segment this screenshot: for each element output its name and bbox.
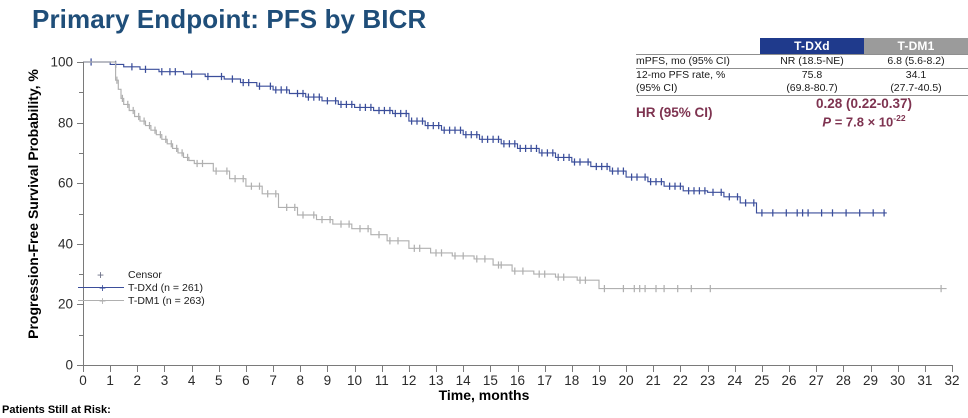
x-tick-label-26: 26 bbox=[775, 373, 803, 388]
censor-plus-icon: + bbox=[99, 295, 106, 307]
risk-caption: Patients Still at Risk: bbox=[2, 404, 111, 416]
x-tick-15 bbox=[490, 366, 491, 372]
x-tick-29 bbox=[871, 366, 872, 372]
stats-header-tdxd: T-DXd bbox=[760, 38, 864, 55]
x-tick-label-17: 17 bbox=[531, 373, 559, 388]
x-tick-31 bbox=[925, 366, 926, 372]
row-mpfs-tdxd: NR (18.5-NE) bbox=[760, 55, 864, 69]
x-tick-label-27: 27 bbox=[802, 373, 830, 388]
x-tick-16 bbox=[518, 366, 519, 372]
x-tick-11 bbox=[382, 366, 383, 372]
page-title: Primary Endpoint: PFS by BICR bbox=[32, 4, 426, 35]
p-value: P = 7.8 × 10-22 bbox=[760, 111, 968, 129]
x-tick-label-13: 13 bbox=[422, 373, 450, 388]
y-tick-label-60: 60 bbox=[39, 176, 73, 191]
x-tick-label-2: 2 bbox=[123, 373, 151, 388]
y-axis-label: Progression-Free Survival Probability, % bbox=[25, 44, 41, 364]
y-tick-minor-70 bbox=[79, 153, 83, 154]
legend-key-icon: + bbox=[78, 295, 124, 307]
y-axis-line bbox=[83, 62, 84, 366]
x-tick-30 bbox=[898, 366, 899, 372]
row-rate-label: 12-mo PFS rate, % bbox=[636, 69, 760, 82]
stats-table: T-DXd T-DM1 mPFS, mo (95% CI) NR (18.5-N… bbox=[636, 38, 968, 129]
x-tick-1 bbox=[110, 366, 111, 372]
y-tick-major-80 bbox=[77, 123, 83, 124]
x-tick-2 bbox=[137, 366, 138, 372]
x-tick-21 bbox=[653, 366, 654, 372]
stats-hr-row: HR (95% CI) 0.28 (0.22-0.37) P = 7.8 × 1… bbox=[636, 96, 968, 129]
y-tick-major-40 bbox=[77, 244, 83, 245]
row-rate-tdm1: 34.1 bbox=[864, 69, 968, 82]
x-tick-label-16: 16 bbox=[504, 373, 532, 388]
x-tick-label-20: 20 bbox=[612, 373, 640, 388]
y-tick-label-100: 100 bbox=[39, 55, 73, 70]
x-tick-label-23: 23 bbox=[694, 373, 722, 388]
x-tick-25 bbox=[762, 366, 763, 372]
x-tick-label-25: 25 bbox=[748, 373, 776, 388]
p-exponent: -22 bbox=[893, 113, 905, 123]
row-ci-label: (95% CI) bbox=[636, 82, 760, 96]
x-tick-label-29: 29 bbox=[857, 373, 885, 388]
x-tick-27 bbox=[816, 366, 817, 372]
y-tick-major-60 bbox=[77, 183, 83, 184]
table-row: (95% CI) (69.8-80.7) (27.7-40.5) bbox=[636, 82, 968, 96]
x-tick-label-0: 0 bbox=[69, 373, 97, 388]
x-tick-label-6: 6 bbox=[232, 373, 260, 388]
legend-label: T-DXd (n = 261) bbox=[128, 282, 203, 294]
x-tick-label-11: 11 bbox=[368, 373, 396, 388]
x-tick-label-15: 15 bbox=[476, 373, 504, 388]
table-row: mPFS, mo (95% CI) NR (18.5-NE) 6.8 (5.6-… bbox=[636, 55, 968, 69]
x-tick-20 bbox=[626, 366, 627, 372]
x-tick-label-19: 19 bbox=[585, 373, 613, 388]
x-tick-4 bbox=[192, 366, 193, 372]
x-tick-22 bbox=[680, 366, 681, 372]
x-tick-10 bbox=[355, 366, 356, 372]
x-tick-label-18: 18 bbox=[558, 373, 586, 388]
stats-header-row: T-DXd T-DM1 bbox=[636, 38, 968, 55]
x-tick-13 bbox=[436, 366, 437, 372]
x-tick-18 bbox=[572, 366, 573, 372]
chart-legend: +Censor+T-DXd (n = 261)+T-DM1 (n = 263) bbox=[78, 268, 205, 307]
y-tick-major-100 bbox=[77, 62, 83, 63]
x-tick-0 bbox=[83, 366, 84, 372]
x-tick-6 bbox=[246, 366, 247, 372]
legend-label: T-DM1 (n = 263) bbox=[128, 295, 205, 307]
x-tick-8 bbox=[300, 366, 301, 372]
x-tick-32 bbox=[952, 366, 953, 372]
x-axis-label: Time, months bbox=[0, 387, 968, 403]
x-tick-label-12: 12 bbox=[395, 373, 423, 388]
y-tick-label-20: 20 bbox=[39, 297, 73, 312]
x-tick-label-4: 4 bbox=[178, 373, 206, 388]
x-tick-23 bbox=[708, 366, 709, 372]
x-tick-label-32: 32 bbox=[938, 373, 966, 388]
x-tick-label-8: 8 bbox=[286, 373, 314, 388]
x-tick-14 bbox=[463, 366, 464, 372]
x-tick-label-28: 28 bbox=[829, 373, 857, 388]
stats-table-grid: T-DXd T-DM1 mPFS, mo (95% CI) NR (18.5-N… bbox=[636, 38, 968, 129]
stats-header-tdm1: T-DM1 bbox=[864, 38, 968, 55]
table-row: 12-mo PFS rate, % 75.8 34.1 bbox=[636, 69, 968, 82]
slide-root: Primary Endpoint: PFS by BICR 0204060801… bbox=[0, 0, 968, 418]
x-tick-label-5: 5 bbox=[205, 373, 233, 388]
stats-header-blank bbox=[636, 38, 760, 55]
row-rate-tdxd: 75.8 bbox=[760, 69, 864, 82]
legend-item-t-dxd: +T-DXd (n = 261) bbox=[78, 281, 205, 294]
x-tick-17 bbox=[545, 366, 546, 372]
hr-label: HR (95% CI) bbox=[636, 96, 760, 129]
row-ci-tdxd: (69.8-80.7) bbox=[760, 82, 864, 96]
x-tick-label-21: 21 bbox=[639, 373, 667, 388]
x-tick-5 bbox=[219, 366, 220, 372]
legend-label: Censor bbox=[128, 269, 162, 281]
x-tick-28 bbox=[843, 366, 844, 372]
y-tick-minor-50 bbox=[79, 214, 83, 215]
row-ci-tdm1: (27.7-40.5) bbox=[864, 82, 968, 96]
x-tick-label-7: 7 bbox=[259, 373, 287, 388]
hr-values: 0.28 (0.22-0.37) P = 7.8 × 10-22 bbox=[760, 96, 968, 129]
x-tick-26 bbox=[789, 366, 790, 372]
x-tick-label-30: 30 bbox=[884, 373, 912, 388]
x-tick-label-10: 10 bbox=[341, 373, 369, 388]
x-tick-7 bbox=[273, 366, 274, 372]
x-tick-label-14: 14 bbox=[449, 373, 477, 388]
hr-value: 0.28 (0.22-0.37) bbox=[760, 96, 968, 111]
y-tick-label-0: 0 bbox=[39, 358, 73, 373]
x-tick-label-9: 9 bbox=[313, 373, 341, 388]
x-tick-label-1: 1 bbox=[96, 373, 124, 388]
x-tick-24 bbox=[735, 366, 736, 372]
x-tick-9 bbox=[327, 366, 328, 372]
y-tick-minor-10 bbox=[79, 335, 83, 336]
legend-item-t-dm1: +T-DM1 (n = 263) bbox=[78, 294, 205, 307]
legend-item-censor: +Censor bbox=[78, 268, 205, 281]
row-mpfs-label: mPFS, mo (95% CI) bbox=[636, 55, 760, 69]
p-number: = 7.8 × 10 bbox=[831, 114, 893, 129]
x-tick-12 bbox=[409, 366, 410, 372]
y-tick-minor-90 bbox=[79, 92, 83, 93]
legend-key-icon: + bbox=[78, 269, 124, 281]
p-symbol: P bbox=[822, 114, 831, 129]
row-mpfs-tdm1: 6.8 (5.6-8.2) bbox=[864, 55, 968, 69]
y-tick-label-40: 40 bbox=[39, 236, 73, 251]
x-tick-label-24: 24 bbox=[721, 373, 749, 388]
x-tick-label-22: 22 bbox=[666, 373, 694, 388]
x-tick-label-3: 3 bbox=[150, 373, 178, 388]
y-tick-label-80: 80 bbox=[39, 115, 73, 130]
x-tick-label-31: 31 bbox=[911, 373, 939, 388]
x-tick-3 bbox=[164, 366, 165, 372]
censor-plus-icon: + bbox=[99, 282, 106, 294]
legend-key-icon: + bbox=[78, 282, 124, 294]
censor-plus-icon: + bbox=[97, 269, 104, 281]
x-tick-19 bbox=[599, 366, 600, 372]
